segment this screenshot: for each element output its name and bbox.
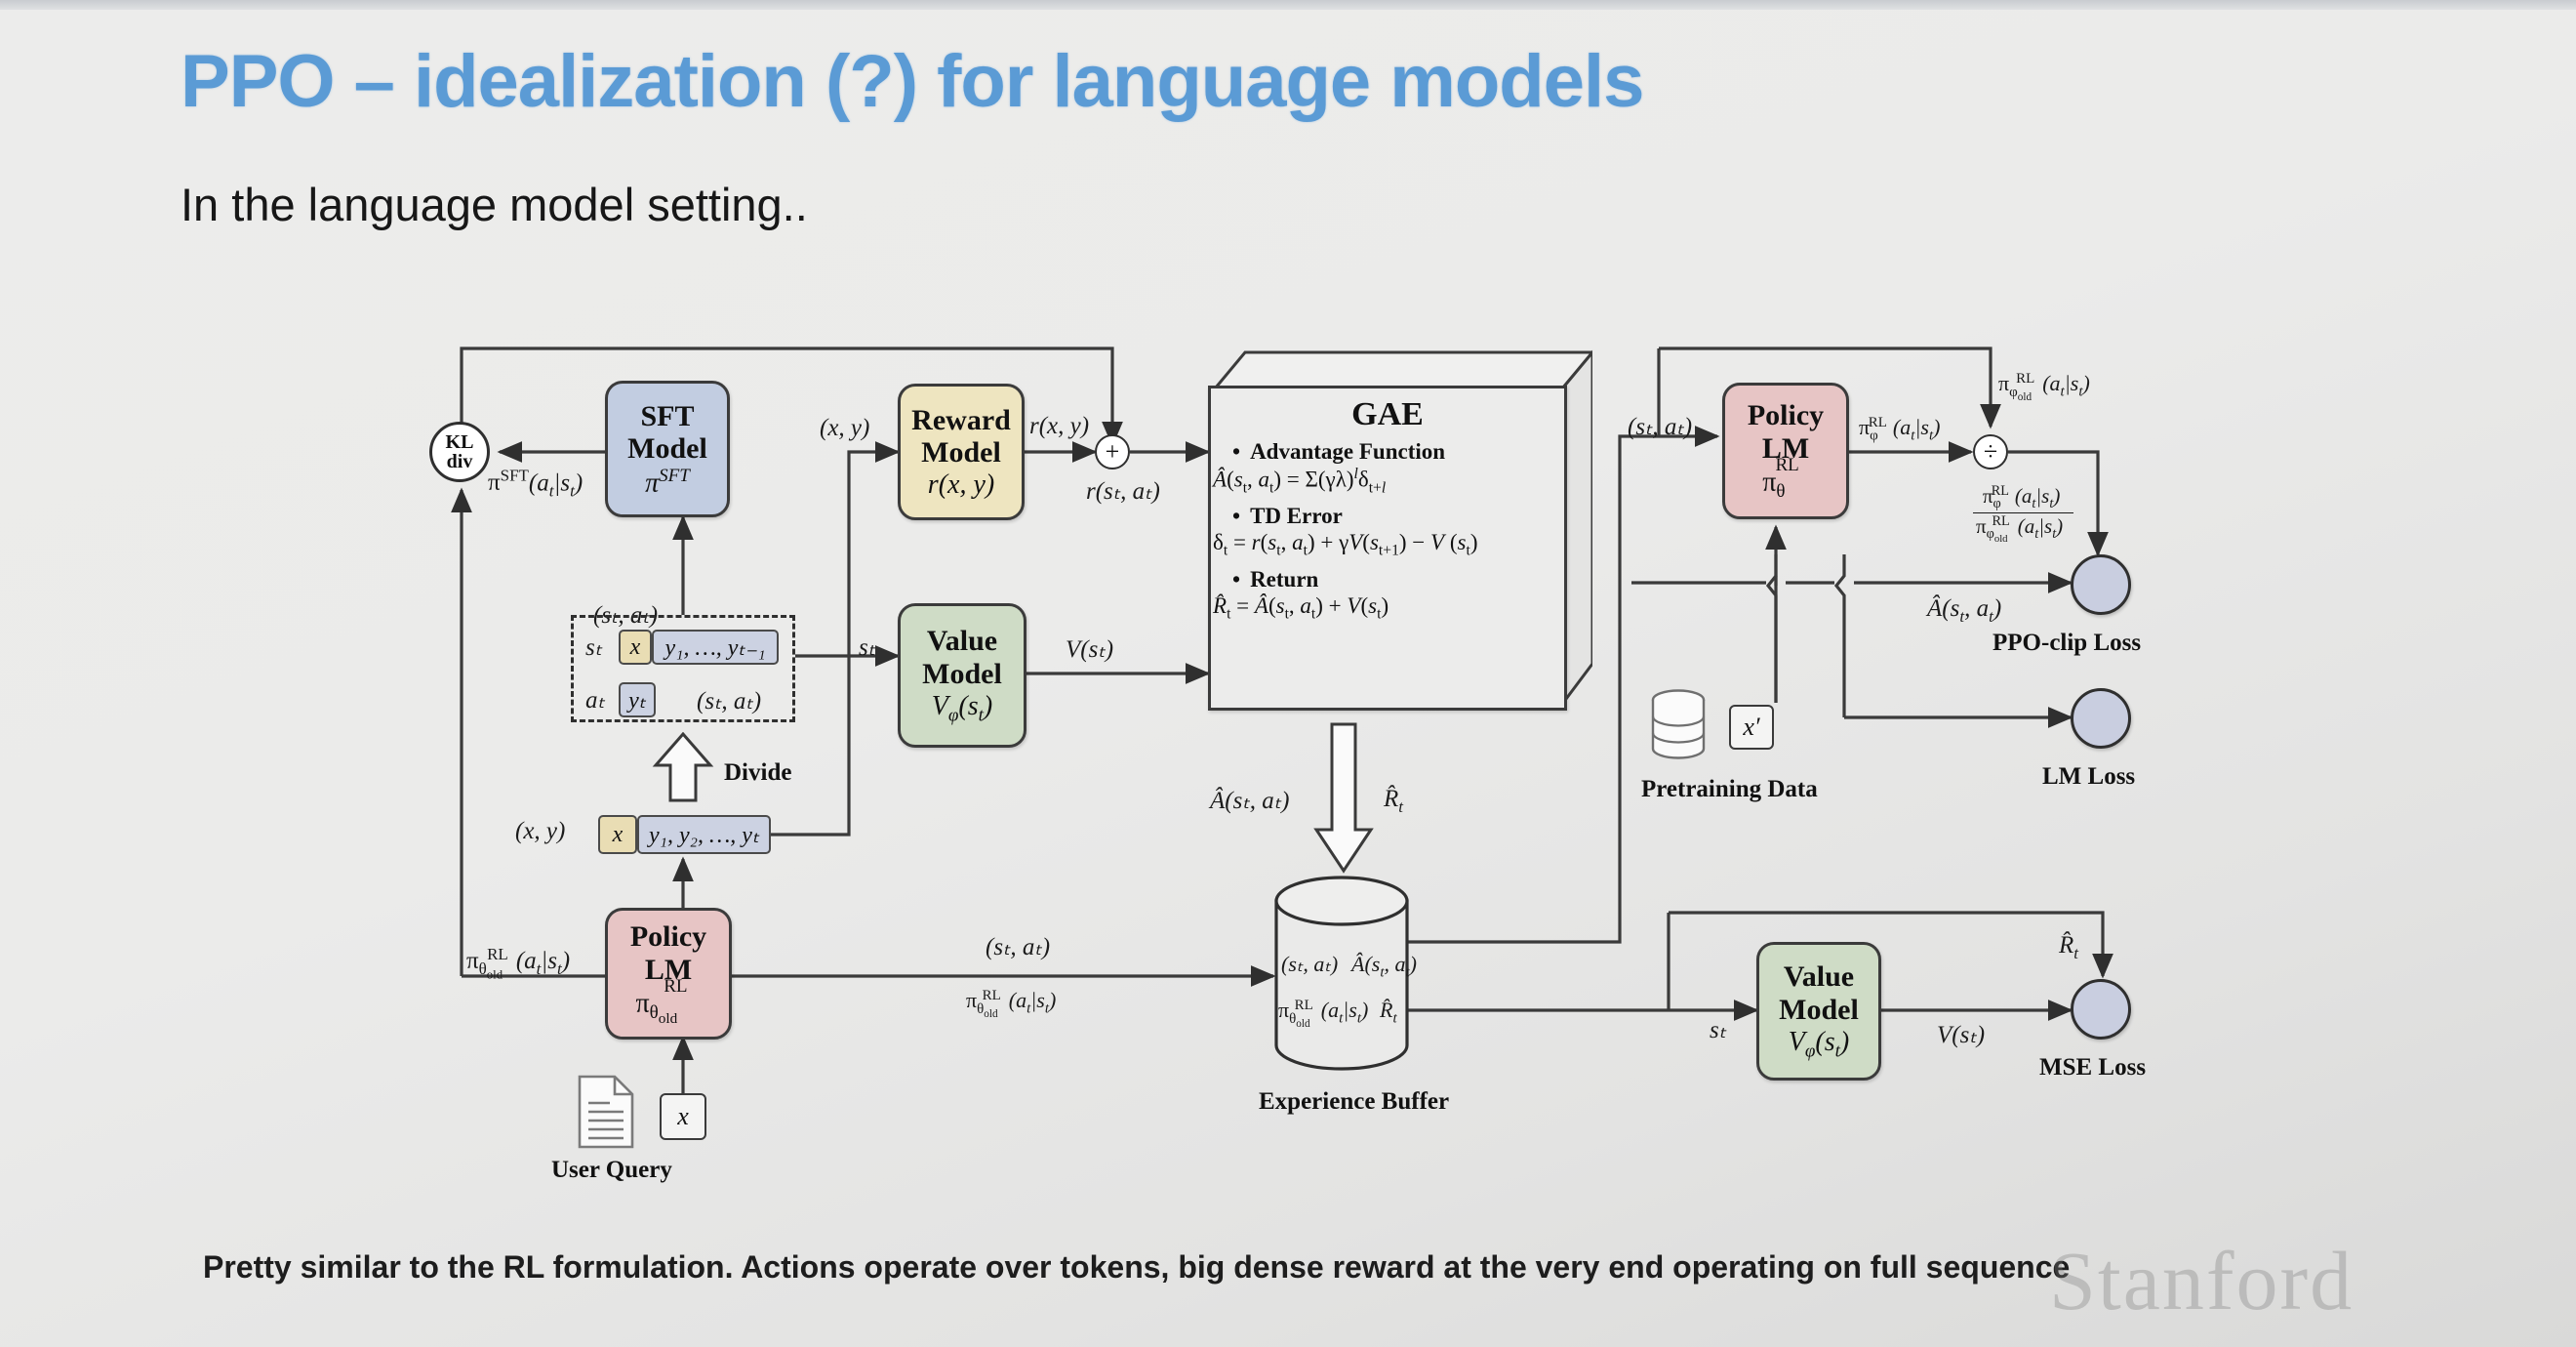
mse-loss-node: [2071, 979, 2131, 1040]
reward-sum-operator: +: [1095, 434, 1130, 469]
full-x-token[interactable]: x: [598, 815, 637, 854]
edge-label-pi-sft: πSFT(at|st): [488, 467, 583, 501]
pretraining-data-database-icon: [1649, 688, 1708, 762]
reward-model-fn: r(x, y): [928, 469, 994, 500]
gae-box: GAE Advantage Function Â(st, at) = Σ(γλ)…: [1208, 386, 1567, 711]
edge-label-gae-advantage: Â(sₜ, aₜ): [1210, 786, 1289, 815]
value-model-box-mid[interactable]: Value Model Vφ(st): [898, 603, 1026, 748]
edge-label-pi-phi: πφRL(at|st): [1859, 415, 1944, 445]
sft-model-policy-symbol: πSFT: [645, 466, 690, 499]
policy-lm-box-bottom[interactable]: Policy LM πθoldRL: [605, 908, 732, 1040]
ppo-clip-loss-node: [2071, 554, 2131, 615]
edge-label-st-bottom: sₜ: [1710, 1015, 1726, 1044]
user-query-x-token[interactable]: x: [660, 1093, 706, 1140]
sft-model-line1: SFT: [640, 400, 694, 433]
kl-div-line1: KL: [446, 432, 474, 452]
state-y-tokens[interactable]: y₁, …, yₜ₋₁: [652, 630, 779, 665]
value-model-bottom-fn: Vφ(st): [1789, 1027, 1850, 1062]
gae-eq-advantage: Â(st, at) = Σ(γλ)lδt+l: [1211, 466, 1564, 497]
edge-label-r-sa: r(sₜ, aₜ): [1086, 476, 1160, 506]
kl-div-node: KL div: [429, 422, 490, 482]
edge-label-return-bottom: R̂t: [2059, 932, 2078, 963]
edge-label-xy-reward: (x, y): [820, 415, 869, 442]
buffer-row1-right: Â(st, at): [1351, 952, 1417, 981]
state-token-label: sₜ: [585, 633, 602, 662]
divide-up-arrow-icon: [652, 732, 714, 802]
edge-label-v-st-bottom: V(sₜ): [1937, 1020, 1985, 1049]
user-query-document-icon: [576, 1074, 636, 1150]
buffer-row2-right: R̂t: [1380, 998, 1397, 1027]
full-xy-label: (x, y): [515, 818, 565, 845]
lm-loss-caption: LM Loss: [2042, 763, 2135, 791]
full-y-tokens[interactable]: y₁, y₂, …, yₜ: [637, 815, 771, 854]
state-x-token[interactable]: x: [619, 630, 652, 665]
sft-model-line2: Model: [627, 432, 707, 466]
gae-bullet-return: Return: [1232, 567, 1554, 592]
buffer-row2-left: πθoldRL(at|st): [1278, 998, 1376, 1030]
edge-label-gae-return: R̂t: [1384, 786, 1403, 817]
gae-eq-td-error: δt = r(st, at) + γV(st+1) − V (st): [1211, 530, 1564, 560]
reward-model-box[interactable]: Reward Model r(x, y): [898, 384, 1025, 520]
pretraining-data-caption: Pretraining Data: [1641, 776, 1818, 803]
stanford-watermark: Stanford: [2049, 1232, 2354, 1329]
slide-caption: Pretty similar to the RL formulation. Ac…: [203, 1249, 2070, 1286]
action-token-label: aₜ: [585, 685, 605, 714]
policy-lm-top-symbol: πθRL: [1762, 465, 1809, 502]
reward-model-line1: Reward: [911, 404, 1011, 437]
value-model-mid-line2: Model: [922, 658, 1002, 691]
buffer-row1-left: (sₜ, aₜ): [1281, 952, 1338, 977]
ppo-pipeline-diagram: KL div πSFT(at|st) SFT Model πSFT (sₜ, a…: [0, 0, 2576, 1347]
reward-model-line2: Model: [921, 436, 1001, 469]
edge-label-r-xy: r(x, y): [1029, 413, 1089, 440]
state-action-pair-label: (sₜ, aₜ): [697, 686, 761, 715]
policy-lm-bottom-line1: Policy: [630, 920, 706, 954]
sft-model-box[interactable]: SFT Model πSFT: [605, 381, 730, 517]
lm-loss-node: [2071, 688, 2131, 749]
edge-label-sa-to-buffer: (sₜ, aₜ): [986, 932, 1050, 961]
edge-label-pi-theta-old-buffer: πθoldRL(at|st): [966, 988, 1064, 1020]
policy-lm-bottom-symbol: πθoldRL: [635, 986, 701, 1027]
gae-bullet-advantage: Advantage Function: [1232, 439, 1554, 465]
policy-lm-top-line1: Policy: [1748, 399, 1824, 432]
mse-loss-caption: MSE Loss: [2039, 1054, 2146, 1082]
edge-label-advantage-ppo: Â(st, at): [1927, 595, 2001, 627]
value-model-mid-line1: Value: [927, 625, 997, 658]
value-model-bottom-line1: Value: [1784, 960, 1854, 994]
action-y-token[interactable]: yₜ: [619, 682, 656, 717]
policy-lm-box-top[interactable]: Policy LM πθRL: [1722, 383, 1849, 519]
divide-label: Divide: [724, 759, 791, 787]
experience-buffer-caption: Experience Buffer: [1259, 1088, 1449, 1116]
pretraining-x-prime-token[interactable]: x′: [1729, 705, 1774, 750]
gae-to-buffer-arrow-icon: [1312, 722, 1375, 877]
user-query-caption: User Query: [551, 1157, 672, 1184]
edge-label-pi-theta-old-left: πθoldRL(at|st): [466, 945, 578, 983]
gae-title: GAE: [1211, 396, 1564, 433]
ppo-clip-loss-caption: PPO-clip Loss: [1992, 630, 2141, 657]
ratio-divide-operator: ÷: [1973, 434, 2008, 469]
edge-label-v-st: V(sₜ): [1066, 634, 1113, 664]
gae-eq-return: R̂t = Â(st, at) + V(st): [1211, 593, 1564, 624]
edge-label-sa-policy-top: (sₜ, aₜ): [1628, 412, 1692, 441]
gae-bullet-td-error: TD Error: [1232, 504, 1554, 529]
edge-label-st-value: sₜ: [859, 633, 875, 662]
value-model-bottom-line2: Model: [1779, 994, 1859, 1027]
value-model-box-bottom[interactable]: Value Model Vφ(st): [1756, 942, 1881, 1081]
edge-label-pi-phi-old: πφoldRL(at|st): [1998, 371, 2098, 403]
kl-div-line2: div: [446, 452, 474, 471]
value-model-mid-fn: Vφ(st): [932, 691, 993, 726]
edge-label-importance-ratio: πφRL(at|st) πφoldRL(at|st): [1973, 483, 2073, 545]
